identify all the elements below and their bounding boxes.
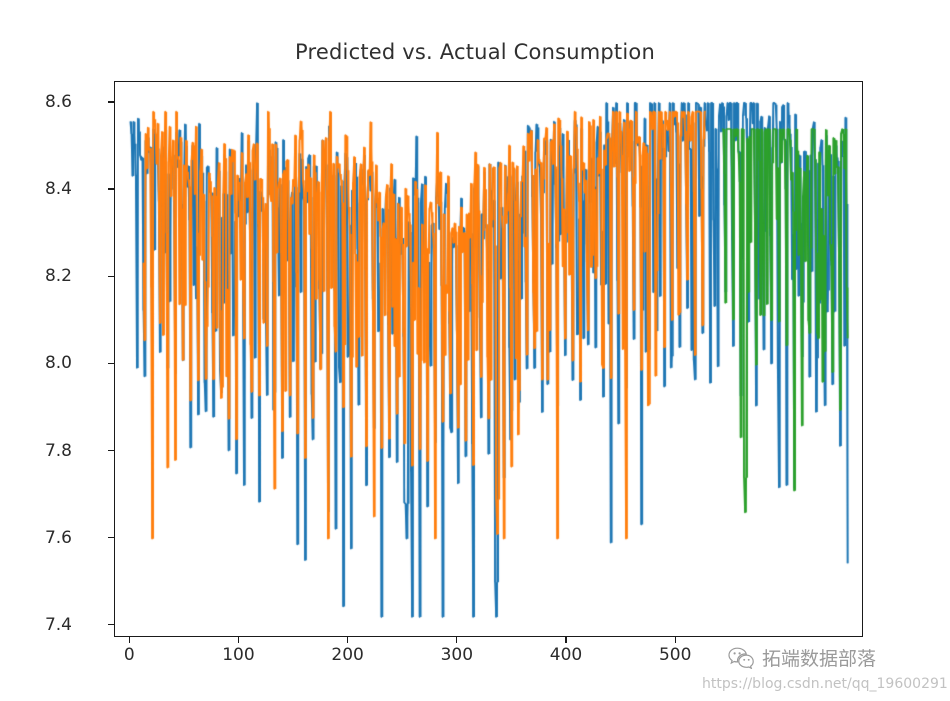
watermark-url: https://blog.csdn.net/qq_19600291 (702, 676, 948, 692)
watermark: 拓端数据部落 (728, 644, 876, 671)
y-axis-tick-label: 7.6 (45, 528, 72, 548)
plot-area (114, 81, 863, 637)
y-axis-tick-mark (108, 363, 114, 364)
y-axis-tick-mark (108, 188, 114, 189)
matplotlib-figure: Predicted vs. Actual Consumption 拓端数据部落 … (0, 0, 950, 701)
x-axis-tick-mark (565, 637, 566, 643)
x-axis-tick-mark (238, 637, 239, 643)
y-axis-tick-label: 8.2 (45, 266, 72, 286)
x-axis-tick-label: 200 (331, 645, 363, 665)
wechat-icon (728, 647, 755, 669)
y-axis-tick-label: 8.4 (45, 179, 72, 199)
y-axis-tick-mark (108, 624, 114, 625)
y-axis-tick-mark (108, 537, 114, 538)
x-axis-tick-mark (347, 637, 348, 643)
watermark-text: 拓端数据部落 (762, 644, 876, 671)
x-axis-tick-mark (129, 637, 130, 643)
page-title: Predicted vs. Actual Consumption (0, 40, 950, 64)
x-axis-tick-label: 300 (441, 645, 473, 665)
x-axis-tick-label: 0 (124, 645, 135, 665)
y-axis-tick-mark (108, 276, 114, 277)
y-axis-tick-label: 8.0 (45, 353, 72, 373)
x-axis-tick-label: 500 (659, 645, 691, 665)
x-axis-tick-mark (675, 637, 676, 643)
y-axis-tick-mark (108, 450, 114, 451)
y-axis-tick-label: 7.8 (45, 441, 72, 461)
y-axis-tick-mark (108, 101, 114, 102)
y-axis-tick-label: 7.4 (45, 615, 72, 635)
x-axis-tick-label: 100 (222, 645, 254, 665)
x-axis-tick-mark (456, 637, 457, 643)
chart-canvas (115, 82, 864, 638)
x-axis-tick-label: 400 (550, 645, 582, 665)
y-axis-tick-label: 8.6 (45, 92, 72, 112)
